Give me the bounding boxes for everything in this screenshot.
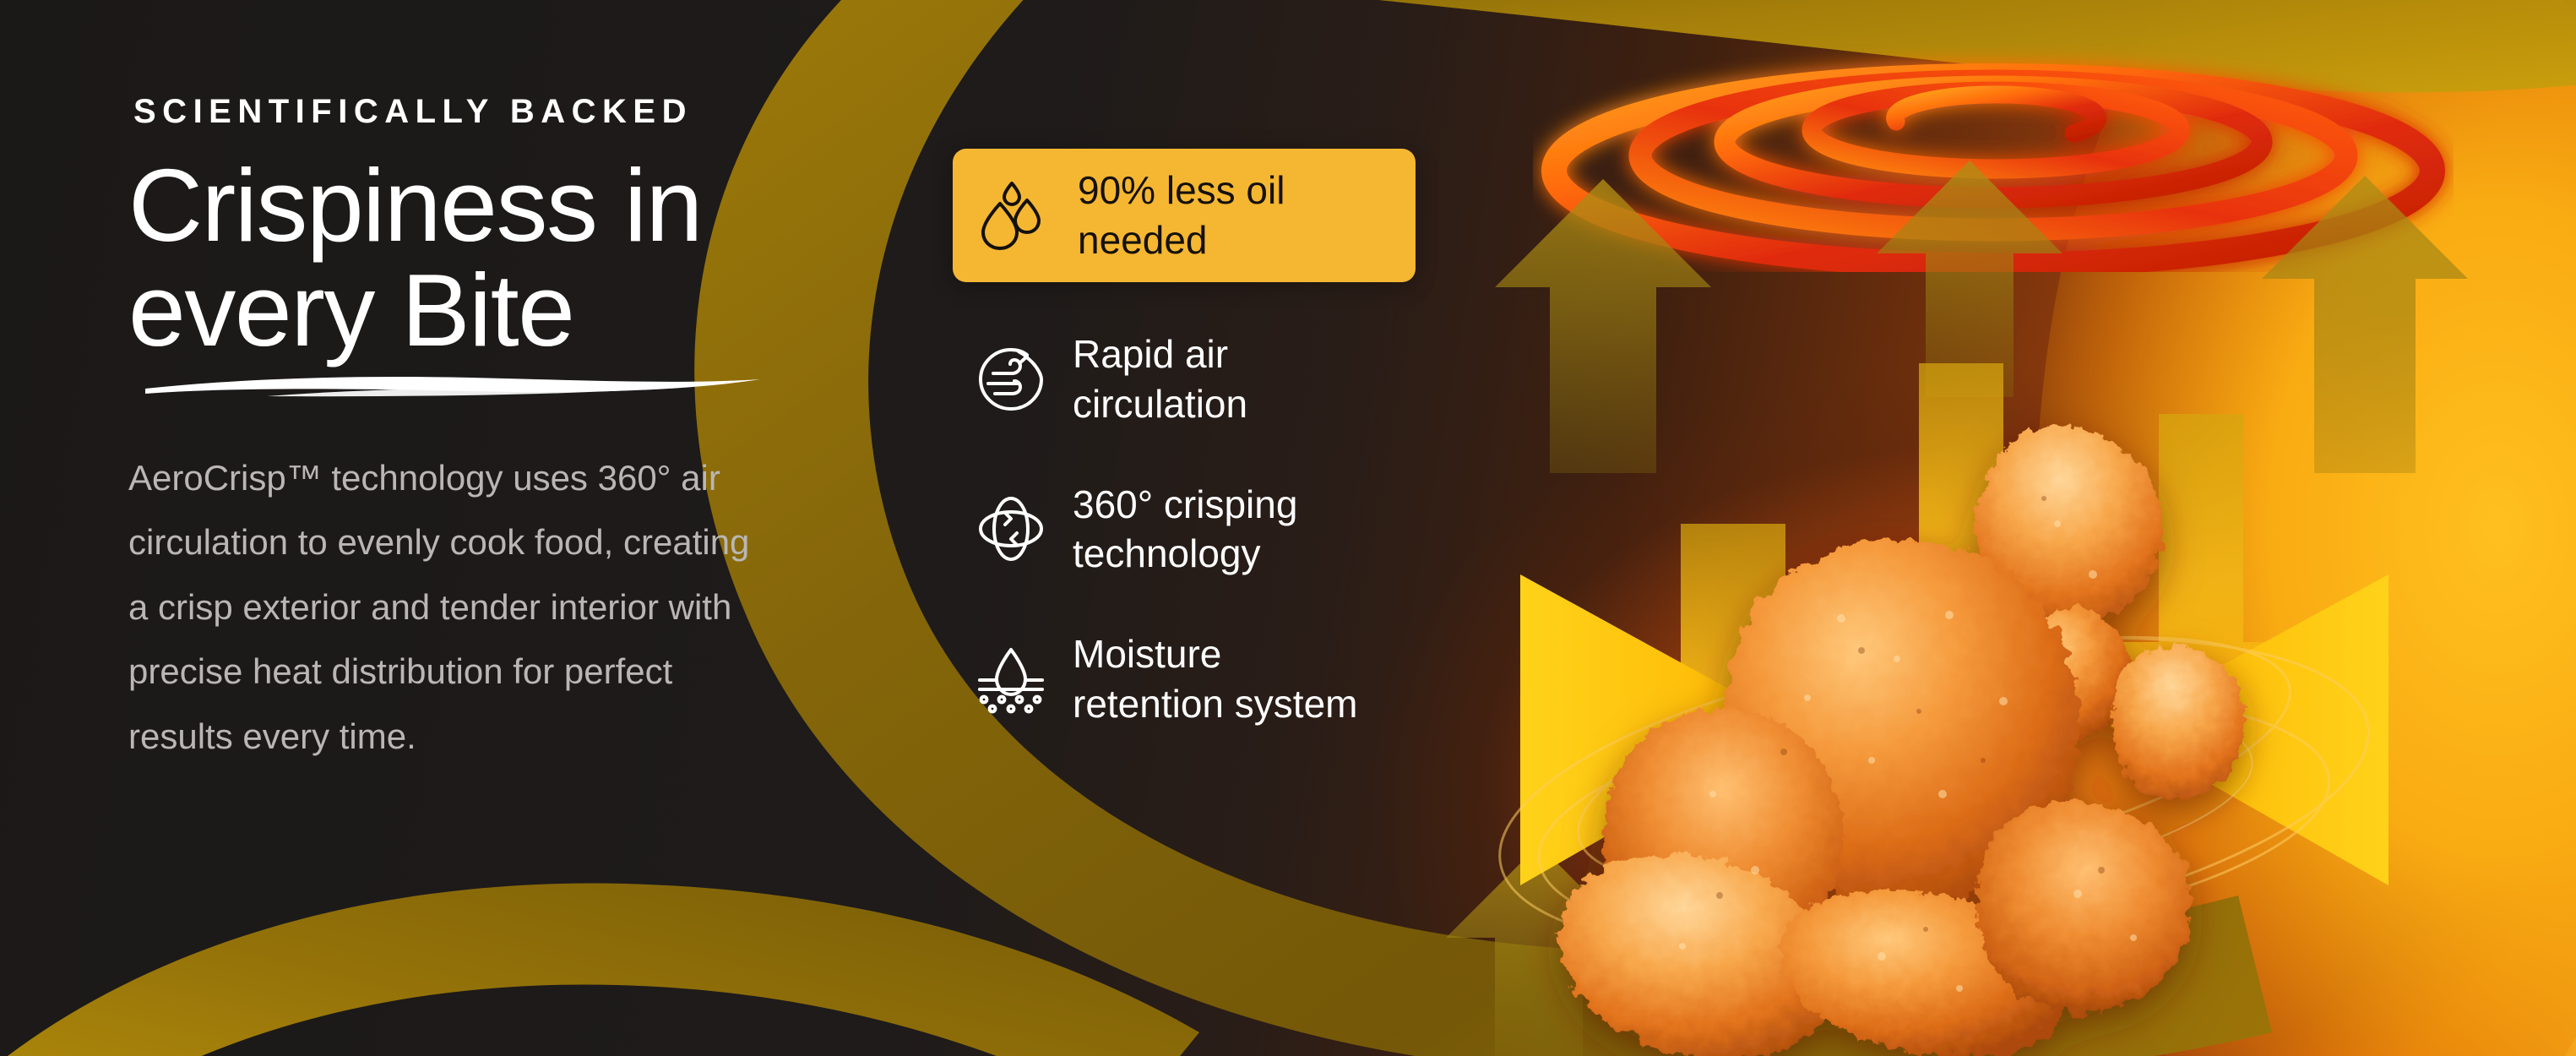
- eyebrow-label: SCIENTIFICALLY BACKED: [133, 93, 889, 131]
- oil-drops-icon: [975, 177, 1052, 254]
- spiral-heating-coil: [1533, 44, 2454, 272]
- headline-underline-stroke: [140, 368, 765, 399]
- headline-line-2: every Bite: [128, 253, 573, 367]
- moisture-retention-icon: [975, 643, 1047, 716]
- feature-item-360-crisping[interactable]: 360° crisping technology: [953, 470, 1544, 590]
- feature-label: 360° crisping technology: [1073, 480, 1297, 580]
- body-paragraph: AeroCrisp™ technology uses 360° air circ…: [128, 446, 770, 769]
- feature-label: 90% less oil needed: [1078, 166, 1285, 265]
- air-circulation-icon: [975, 343, 1047, 416]
- feature-label: Moisture retention system: [1073, 629, 1357, 729]
- feature-list: 90% less oil needed Rapid air circulatio…: [953, 149, 1544, 770]
- headline-line-1: Crispiness in: [128, 148, 702, 263]
- fried-chicken-product-image: [1486, 397, 2331, 1056]
- promo-banner: SCIENTIFICALLY BACKED Crispiness inevery…: [0, 0, 2576, 1056]
- orbit-360-icon: [975, 493, 1047, 565]
- feature-item-oil[interactable]: 90% less oil needed: [953, 149, 1416, 282]
- feature-item-airflow[interactable]: Rapid air circulation: [953, 319, 1544, 439]
- feature-label: Rapid air circulation: [1073, 329, 1247, 429]
- left-content-column: SCIENTIFICALLY BACKED Crispiness inevery…: [128, 93, 889, 769]
- page-title: Crispiness inevery Bite: [128, 153, 889, 363]
- feature-item-moisture[interactable]: Moisture retention system: [953, 619, 1544, 739]
